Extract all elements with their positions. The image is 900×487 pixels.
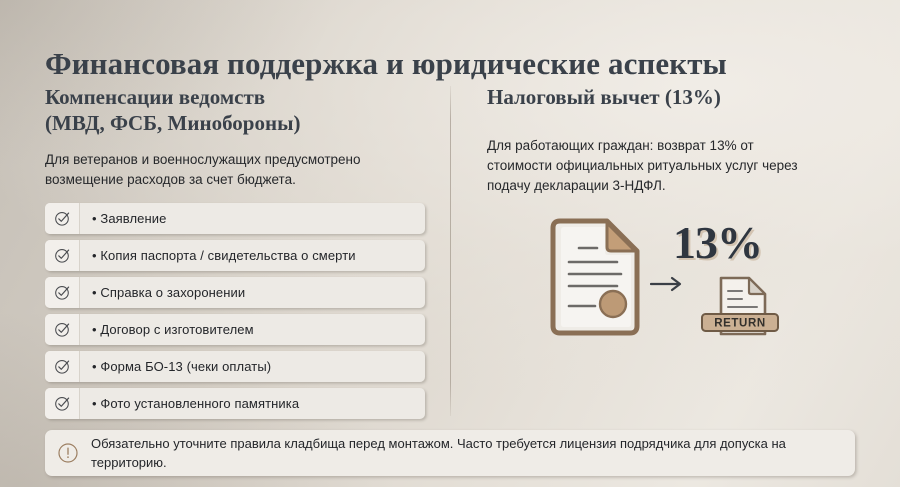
- list-item-label: • Заявление: [80, 203, 425, 234]
- list-item[interactable]: • Договор с изготовителем: [45, 314, 425, 345]
- check-circle-icon: [45, 277, 80, 308]
- list-item-label: • Копия паспорта / свидетельства о смерт…: [80, 240, 425, 271]
- return-badge-label: RETURN: [714, 318, 766, 330]
- check-circle-icon: [45, 351, 80, 382]
- list-item-label: • Договор с изготовителем: [80, 314, 425, 345]
- list-item[interactable]: • Форма БО-13 (чеки оплаты): [45, 351, 425, 382]
- check-circle-icon: [45, 240, 80, 271]
- page-title: Финансовая поддержка и юридические аспек…: [45, 45, 727, 83]
- list-item[interactable]: • Фото установленного памятника: [45, 388, 425, 419]
- documents-checklist: • Заявление • Копия паспорта / свидетель…: [45, 203, 425, 419]
- slide-canvas: Финансовая поддержка и юридические аспек…: [0, 0, 900, 487]
- left-column-heading: Компенсации ведомств (МВД, ФСБ, Миноборо…: [45, 84, 425, 136]
- right-column: Налоговый вычет (13%) Для работающих гра…: [487, 84, 857, 348]
- arrow-right-icon: [650, 276, 686, 292]
- left-column: Компенсации ведомств (МВД, ФСБ, Миноборо…: [45, 84, 425, 425]
- return-document-icon: RETURN: [697, 274, 783, 340]
- list-item-label: • Форма БО-13 (чеки оплаты): [80, 351, 425, 382]
- list-item-label: • Справка о захоронении: [80, 277, 425, 308]
- list-item-label: • Фото установленного памятника: [80, 388, 425, 419]
- alert-circle-icon: [45, 442, 91, 464]
- list-item[interactable]: • Заявление: [45, 203, 425, 234]
- right-column-intro: Для работающих граждан: возврат 13% от с…: [487, 136, 857, 196]
- percent-value: 13%: [673, 220, 762, 266]
- check-circle-icon: [45, 314, 80, 345]
- warning-note: Обязательно уточните правила кладбища пе…: [45, 430, 855, 476]
- check-circle-icon: [45, 388, 80, 419]
- warning-note-text: Обязательно уточните правила кладбища пе…: [91, 434, 855, 472]
- list-item[interactable]: • Справка о захоронении: [45, 277, 425, 308]
- column-divider: [450, 86, 451, 416]
- document-with-seal-icon: [545, 218, 645, 336]
- check-circle-icon: [45, 203, 80, 234]
- left-column-intro: Для ветеранов и военнослужащих предусмот…: [45, 150, 425, 189]
- list-item[interactable]: • Копия паспорта / свидетельства о смерт…: [45, 240, 425, 271]
- right-column-heading: Налоговый вычет (13%): [487, 84, 857, 110]
- tax-return-illustration: 13% RETURN: [545, 218, 805, 348]
